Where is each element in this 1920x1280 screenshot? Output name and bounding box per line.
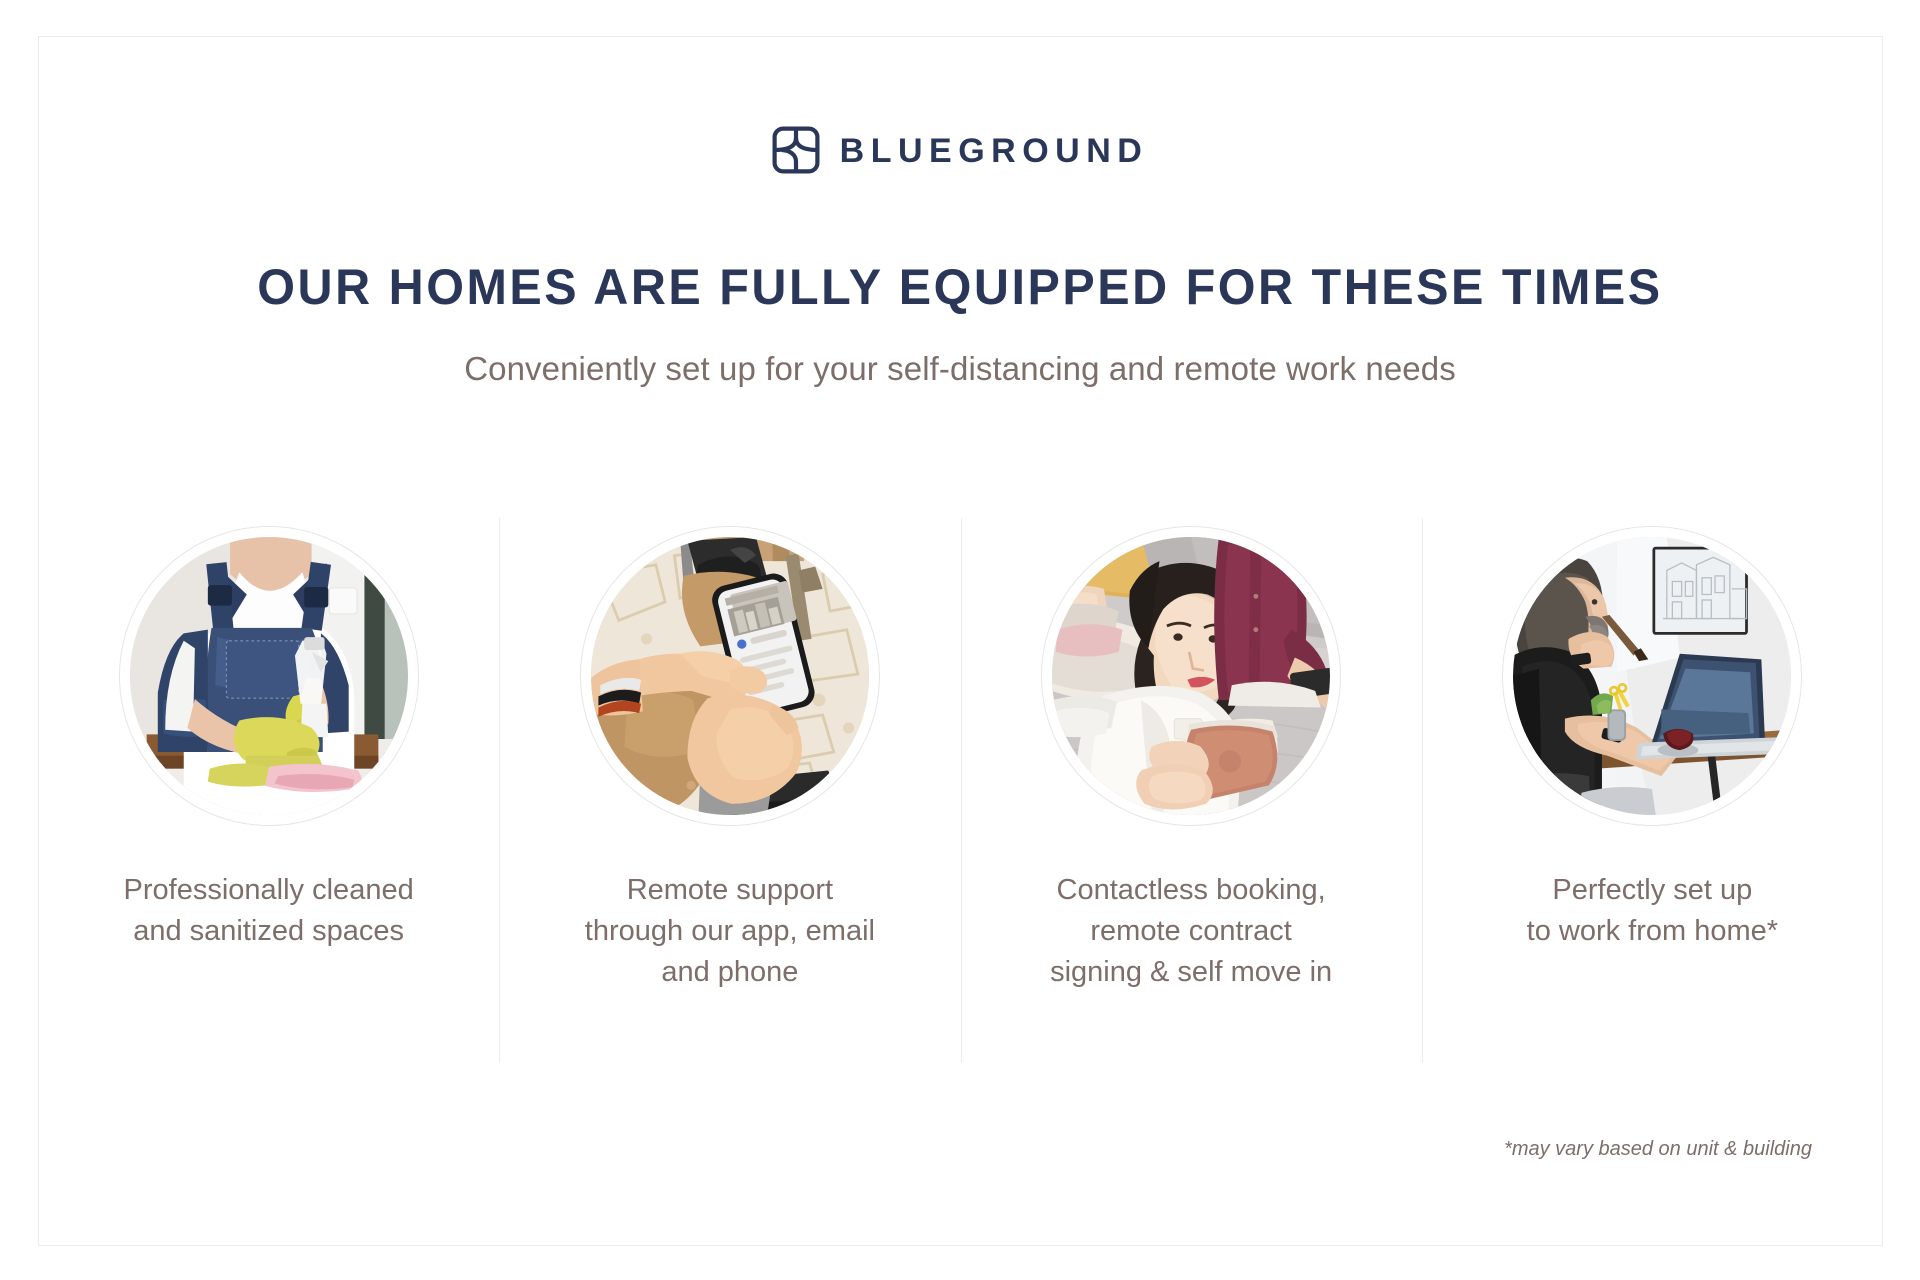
feature-caption: Remote support through our app, email an… [585, 870, 875, 993]
brand-lockup: BLUEGROUND [0, 126, 1920, 174]
page-title: OUR HOMES ARE FULLY EQUIPPED FOR THESE T… [29, 258, 1891, 316]
feature-image-ring [1502, 526, 1802, 826]
feature-image-ring [1041, 526, 1341, 826]
feature-caption: Contactless booking, remote contract sig… [1050, 870, 1332, 993]
brand-wordmark: BLUEGROUND [840, 132, 1149, 168]
feature-column-work-from-home: Perfectly set up to work from home* [1422, 518, 1883, 1063]
page-subtitle: Conveniently set up for your self-distan… [0, 350, 1920, 388]
photo-professional-cleaning [130, 537, 408, 815]
feature-column-contactless-booking: Contactless booking, remote contract sig… [961, 518, 1422, 1063]
blueground-square-mark-icon [772, 126, 820, 174]
marketing-banner: BLUEGROUND OUR HOMES ARE FULLY EQUIPPED … [0, 0, 1920, 1280]
feature-caption: Perfectly set up to work from home* [1527, 870, 1778, 952]
photo-work-from-home-desk [1513, 537, 1791, 815]
feature-column-cleaning: Professionally cleaned and sanitized spa… [38, 518, 499, 1063]
feature-columns: Professionally cleaned and sanitized spa… [38, 518, 1883, 1063]
photo-contactless-booking-tablet [1052, 537, 1330, 815]
feature-image-ring [580, 526, 880, 826]
feature-caption: Professionally cleaned and sanitized spa… [124, 870, 414, 952]
photo-remote-support-phone [591, 537, 869, 815]
footnote-disclaimer: *may vary based on unit & building [1504, 1138, 1812, 1161]
feature-image-ring [119, 526, 419, 826]
feature-column-remote-support: Remote support through our app, email an… [499, 518, 960, 1063]
